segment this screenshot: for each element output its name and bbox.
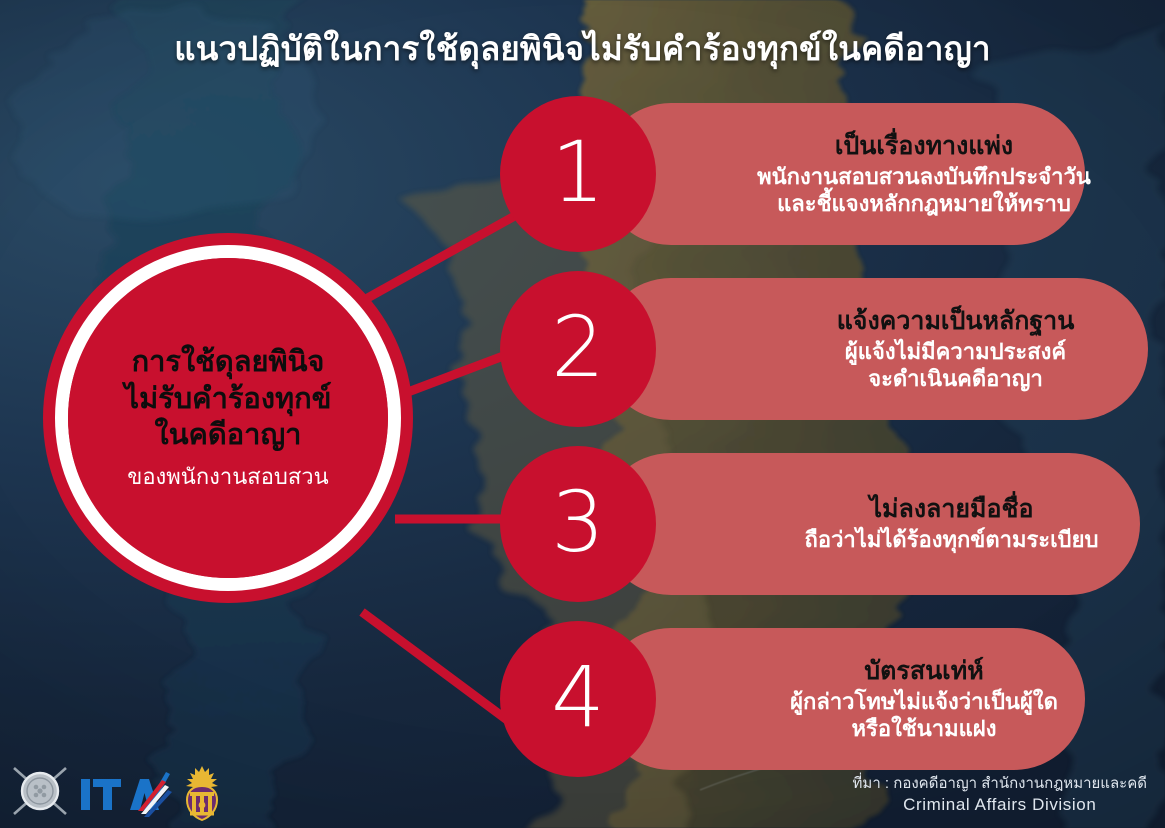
ita-logo xyxy=(78,770,174,822)
royal-thai-police-emblem-logo xyxy=(178,764,226,822)
item-text-3: ไม่ลงลายมือชื่อ ถือว่าไม่ได้ร้องทุกข์ตาม… xyxy=(785,453,1118,595)
hub-circle[interactable]: การใช้ดุลยพินิจ ไม่รับคำร้องทุกข์ ในคดีอ… xyxy=(43,233,413,603)
logo-group xyxy=(8,760,226,822)
item-heading-1: เป็นเรื่องทางแพ่ง xyxy=(835,131,1013,161)
item-text-4: บัตรสนเท่ห์ ผู้กล่าวโทษไม่แจ้งว่าเป็นผู้… xyxy=(785,628,1063,770)
item-pill-1[interactable]: เป็นเรื่องทางแพ่ง พนักงานสอบสวนลงบันทึกป… xyxy=(600,103,1085,245)
item-pill-2[interactable]: แจ้งความเป็นหลักฐาน ผู้แจ้งไม่มีความประส… xyxy=(600,278,1148,420)
item-heading-2: แจ้งความเป็นหลักฐาน xyxy=(837,306,1075,336)
item-body-line2-2: จะดำเนินคดีอาญา xyxy=(868,366,1043,393)
item-body-line1-1: พนักงานสอบสวนลงบันทึกประจำวัน xyxy=(757,164,1091,191)
item-number-bubble-4[interactable]: 4 xyxy=(500,621,656,777)
item-number-bubble-3[interactable]: 3 xyxy=(500,446,656,602)
royal-police-seal-logo xyxy=(8,760,74,822)
hub-title-line2: ไม่รับคำร้องทุกข์ xyxy=(124,381,331,418)
item-body-line2-4: หรือใช้นามแฝง xyxy=(852,716,997,743)
source-credit: ที่มา : กองคดีอาญา สำนักงานกฎหมายและคดี … xyxy=(853,774,1147,816)
source-line-english: Criminal Affairs Division xyxy=(853,794,1147,816)
item-number-1: 1 xyxy=(551,130,604,214)
connector-line-2 xyxy=(408,355,506,392)
infographic-canvas: แนวปฏิบัติในการใช้ดุลยพินิจไม่รับคำร้องท… xyxy=(0,0,1165,828)
hub-title-line3: ในคดีอาญา xyxy=(155,417,302,454)
item-body-line2-1: และชี้แจงหลักกฎหมายให้ทราบ xyxy=(777,191,1071,218)
item-number-2: 2 xyxy=(551,305,604,389)
item-body-line1-2: ผู้แจ้งไม่มีความประสงค์ xyxy=(845,339,1066,366)
item-body-line1-4: ผู้กล่าวโทษไม่แจ้งว่าเป็นผู้ใด xyxy=(790,689,1058,716)
item-number-3: 3 xyxy=(551,480,604,564)
item-pill-3[interactable]: ไม่ลงลายมือชื่อ ถือว่าไม่ได้ร้องทุกข์ตาม… xyxy=(600,453,1140,595)
hub-title-line1: การใช้ดุลยพินิจ xyxy=(132,344,325,381)
connector-line-1 xyxy=(364,213,520,300)
item-number-bubble-1[interactable]: 1 xyxy=(500,96,656,252)
item-heading-4: บัตรสนเท่ห์ xyxy=(864,656,983,686)
item-heading-3: ไม่ลงลายมือชื่อ xyxy=(869,494,1033,524)
item-number-bubble-2[interactable]: 2 xyxy=(500,271,656,427)
item-pill-4[interactable]: บัตรสนเท่ห์ ผู้กล่าวโทษไม่แจ้งว่าเป็นผู้… xyxy=(600,628,1085,770)
item-body-line1-3: ถือว่าไม่ได้ร้องทุกข์ตามระเบียบ xyxy=(805,527,1099,554)
hub-inner-circle: การใช้ดุลยพินิจ ไม่รับคำร้องทุกข์ ในคดีอ… xyxy=(68,258,388,578)
hub-subtitle: ของพนักงานสอบสวน xyxy=(127,463,328,492)
item-number-4: 4 xyxy=(551,655,604,739)
item-text-2: แจ้งความเป็นหลักฐาน ผู้แจ้งไม่มีความประส… xyxy=(785,278,1126,420)
source-line-thai: ที่มา : กองคดีอาญา สำนักงานกฎหมายและคดี xyxy=(853,774,1147,794)
item-text-1: เป็นเรื่องทางแพ่ง พนักงานสอบสวนลงบันทึกป… xyxy=(785,103,1063,245)
